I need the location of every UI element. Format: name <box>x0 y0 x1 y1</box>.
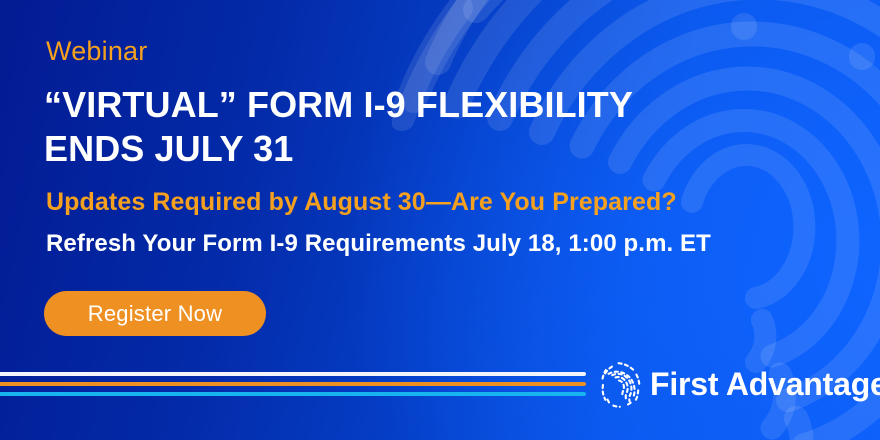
brand-logo[interactable]: First Advantage <box>597 360 880 408</box>
register-now-button[interactable]: Register Now <box>44 291 266 336</box>
fingerprint-icon <box>597 360 641 408</box>
subheadline: Updates Required by August 30—Are You Pr… <box>46 188 677 217</box>
event-detail-text: Refresh Your Form I-9 Requirements July … <box>46 230 711 258</box>
white-rule <box>0 372 586 376</box>
page-title: “VIRTUAL” FORM I-9 FLEXIBILITY ENDS JULY… <box>44 83 744 171</box>
banner-content: Webinar “VIRTUAL” FORM I-9 FLEXIBILITY E… <box>0 0 880 440</box>
cyan-rule <box>0 392 586 396</box>
headline-line-2: ENDS JULY 31 <box>44 127 744 171</box>
headline-line-1: “VIRTUAL” FORM I-9 FLEXIBILITY <box>44 84 633 125</box>
brand-name: First Advantage <box>650 366 880 403</box>
orange-rule <box>0 382 586 386</box>
webinar-promo-banner: Webinar “VIRTUAL” FORM I-9 FLEXIBILITY E… <box>0 0 880 440</box>
accent-rule-group <box>0 372 586 404</box>
eyebrow-label: Webinar <box>46 36 147 67</box>
